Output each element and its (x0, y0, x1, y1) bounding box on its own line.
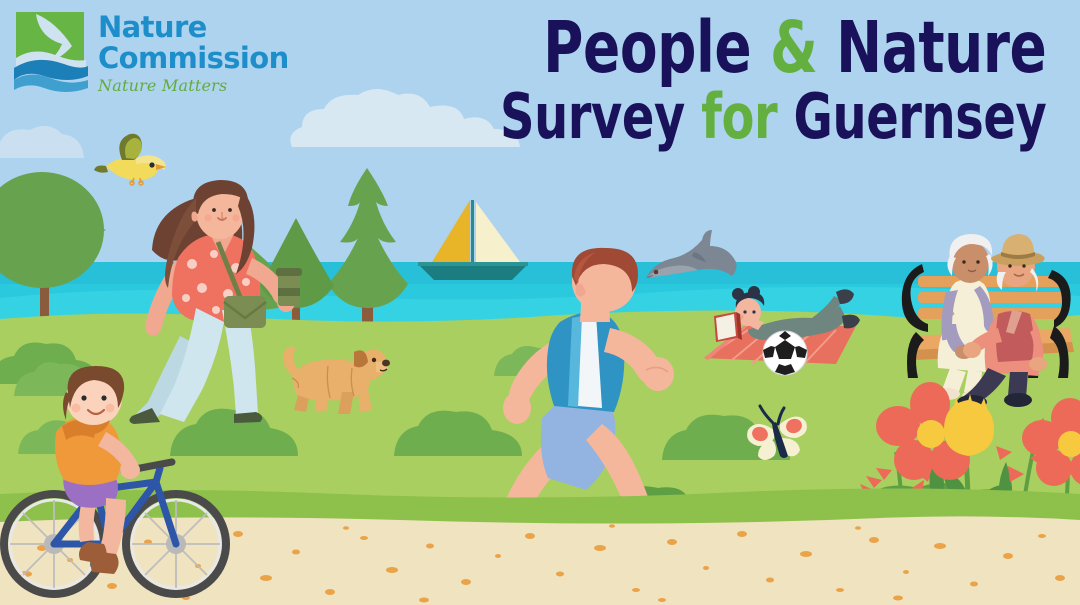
logo-wordmark: Nature Commission Nature Matters (98, 12, 318, 95)
people-and-nature-survey-banner: Nature Commission Nature Matters People … (0, 0, 1080, 605)
logo-word-nature: Nature (98, 12, 318, 43)
title-line-one: People & Nature (500, 14, 1046, 82)
banner-title: People & Nature Survey for Guernsey (411, 14, 1046, 147)
logo-word-commission: Commission (98, 43, 318, 74)
title-guernsey: Guernsey (793, 80, 1046, 153)
title-nature: Nature (836, 6, 1046, 89)
title-line-two: Survey for Guernsey (500, 87, 1046, 147)
logo-mark-icon (14, 10, 88, 94)
title-survey: Survey (500, 80, 685, 153)
title-for: for (701, 80, 777, 153)
title-ampersand: & (770, 6, 817, 89)
logo-tagline: Nature Matters (98, 76, 318, 95)
nature-commission-logo[interactable]: Nature Commission Nature Matters (14, 8, 314, 108)
title-people: People (543, 6, 751, 89)
